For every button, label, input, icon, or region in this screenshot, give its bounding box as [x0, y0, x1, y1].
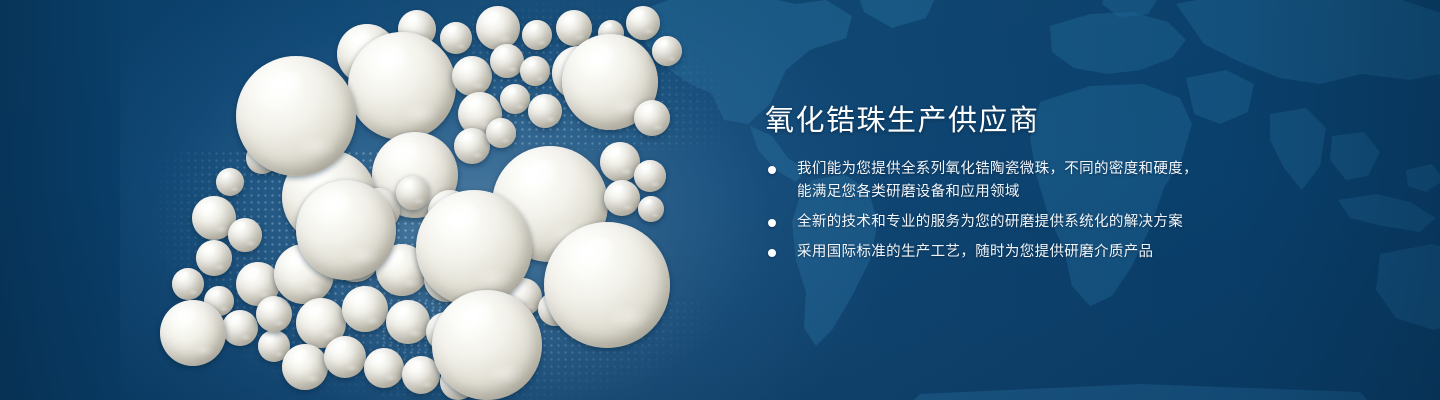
bullet-dot-icon [768, 166, 776, 174]
bead [342, 286, 388, 332]
hero-banner: 氧化锆珠生产供应商 我们能为您提供全系列氧化锆陶瓷微珠，不同的密度和硬度， 能满… [0, 0, 1440, 400]
bead [500, 84, 530, 114]
list-item-line: 采用国际标准的生产工艺，随时为您提供研磨介质产品 [797, 241, 1385, 264]
bead [282, 344, 328, 390]
list-item: 我们能为您提供全系列氧化锆陶瓷微珠，不同的密度和硬度， 能满足您各类研磨设备和应… [765, 158, 1385, 204]
bead [522, 20, 552, 50]
bead [626, 6, 660, 40]
bead [348, 32, 456, 140]
list-item-line: 能满足您各类研磨设备和应用领域 [797, 181, 1385, 204]
page-title: 氧化锆珠生产供应商 [765, 104, 1385, 138]
bead [396, 176, 430, 210]
bead [216, 168, 244, 196]
banner-text-block: 氧化锆珠生产供应商 我们能为您提供全系列氧化锆陶瓷微珠，不同的密度和硬度， 能满… [765, 104, 1385, 264]
bead [256, 296, 292, 332]
bead [634, 100, 670, 136]
bead [634, 160, 666, 192]
bead [454, 128, 490, 164]
bead [452, 56, 492, 96]
bead [324, 336, 366, 378]
feature-list: 我们能为您提供全系列氧化锆陶瓷微珠，不同的密度和硬度， 能满足您各类研磨设备和应… [765, 158, 1385, 264]
bead [440, 22, 472, 54]
bead [160, 300, 226, 366]
bead [172, 268, 204, 300]
bullet-dot-icon [768, 219, 776, 227]
zirconia-beads-photo [0, 0, 760, 400]
bead [222, 310, 258, 346]
bead [544, 222, 670, 348]
bead [296, 180, 396, 280]
bead [490, 44, 524, 78]
list-item-line: 全新的技术和专业的服务为您的研磨提供系统化的解决方案 [797, 211, 1385, 234]
list-item: 全新的技术和专业的服务为您的研磨提供系统化的解决方案 [765, 211, 1385, 234]
bead [604, 180, 640, 216]
bead [638, 196, 664, 222]
bead [476, 6, 520, 50]
bead [196, 240, 232, 276]
list-item-line: 我们能为您提供全系列氧化锆陶瓷微珠，不同的密度和硬度， [797, 158, 1385, 181]
bead [520, 56, 550, 86]
bead [652, 36, 682, 66]
bead [486, 118, 516, 148]
bead [528, 94, 562, 128]
bead [236, 56, 356, 176]
bead [364, 348, 404, 388]
bead [228, 218, 262, 252]
bead [386, 300, 430, 344]
bead [416, 190, 532, 306]
bead [432, 290, 542, 400]
list-item: 采用国际标准的生产工艺，随时为您提供研磨介质产品 [765, 241, 1385, 264]
bullet-dot-icon [768, 249, 776, 257]
